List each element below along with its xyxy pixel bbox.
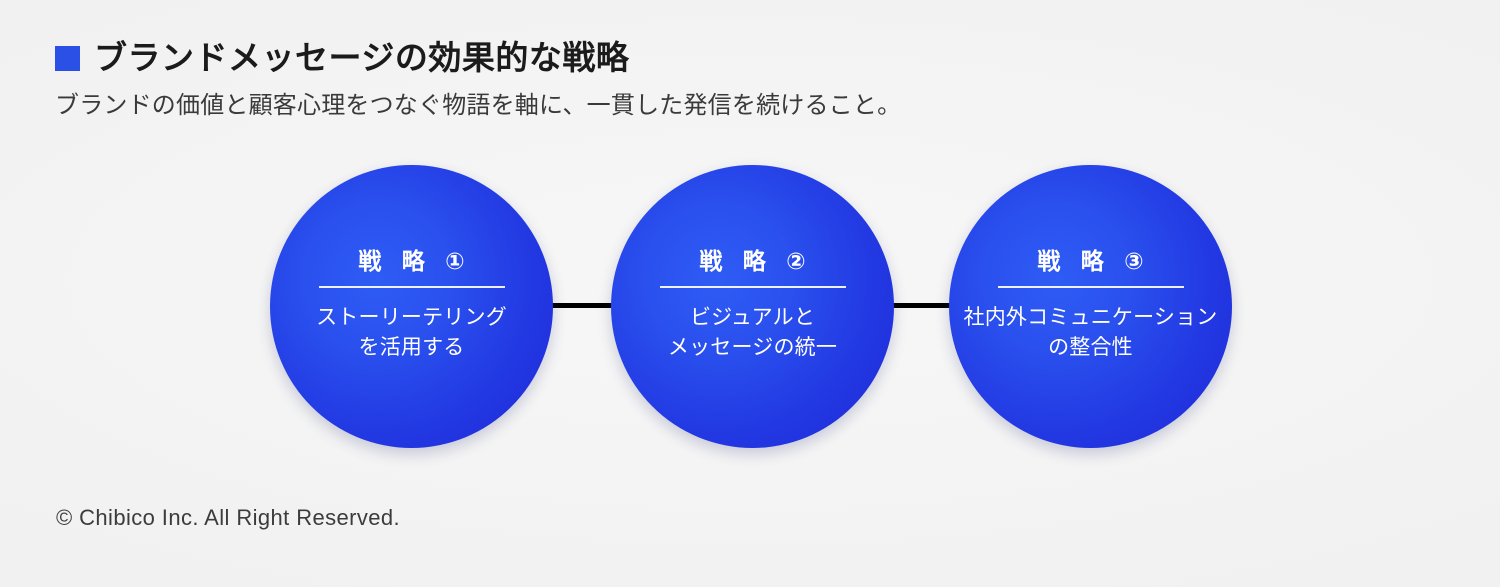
slide-canvas: ブランドメッセージの効果的な戦略 ブランドの価値と顧客心理をつなぐ物語を軸に、一… xyxy=(0,0,1500,587)
strategy-node-1-body: ストーリーテリング を活用する xyxy=(316,303,507,363)
strategy-node-1[interactable]: 戦 略 ① ストーリーテリング を活用する xyxy=(270,165,553,448)
slide-header: ブランドメッセージの効果的な戦略 ブランドの価値と顧客心理をつなぐ物語を軸に、一… xyxy=(55,38,1255,122)
strategy-node-2-label: 戦 略 ② xyxy=(692,250,812,273)
strategy-node-2-body: ビジュアルと メッセージの統一 xyxy=(668,303,837,363)
strategy-node-2[interactable]: 戦 略 ② ビジュアルと メッセージの統一 xyxy=(611,165,894,448)
strategy-node-2-body-line2: メッセージの統一 xyxy=(668,333,837,363)
strategy-node-2-body-line1: ビジュアルと xyxy=(668,303,837,333)
strategy-node-3[interactable]: 戦 略 ③ 社内外コミュニケーション の整合性 xyxy=(949,165,1232,448)
strategy-node-1-divider xyxy=(319,286,505,288)
strategy-node-3-body: 社内外コミュニケーション の整合性 xyxy=(964,303,1218,363)
title-row: ブランドメッセージの効果的な戦略 xyxy=(55,38,1255,78)
strategy-node-3-divider xyxy=(998,286,1184,288)
strategy-node-3-body-line1: 社内外コミュニケーション xyxy=(964,303,1218,333)
strategy-node-3-body-line2: の整合性 xyxy=(964,333,1218,363)
strategy-node-2-divider xyxy=(660,286,846,288)
page-title: ブランドメッセージの効果的な戦略 xyxy=(94,38,629,78)
strategy-node-1-body-line1: ストーリーテリング xyxy=(316,303,507,333)
strategy-node-3-label: 戦 略 ③ xyxy=(1030,250,1150,273)
page-subtitle: ブランドの価値と顧客心理をつなぐ物語を軸に、一貫した発信を続けること。 xyxy=(55,90,1255,122)
strategy-node-1-body-line2: を活用する xyxy=(316,333,507,363)
strategy-node-1-label: 戦 略 ① xyxy=(351,250,471,273)
copyright-footer: © Chibico Inc. All Right Reserved. xyxy=(56,505,400,531)
blue-square-icon xyxy=(55,46,80,71)
